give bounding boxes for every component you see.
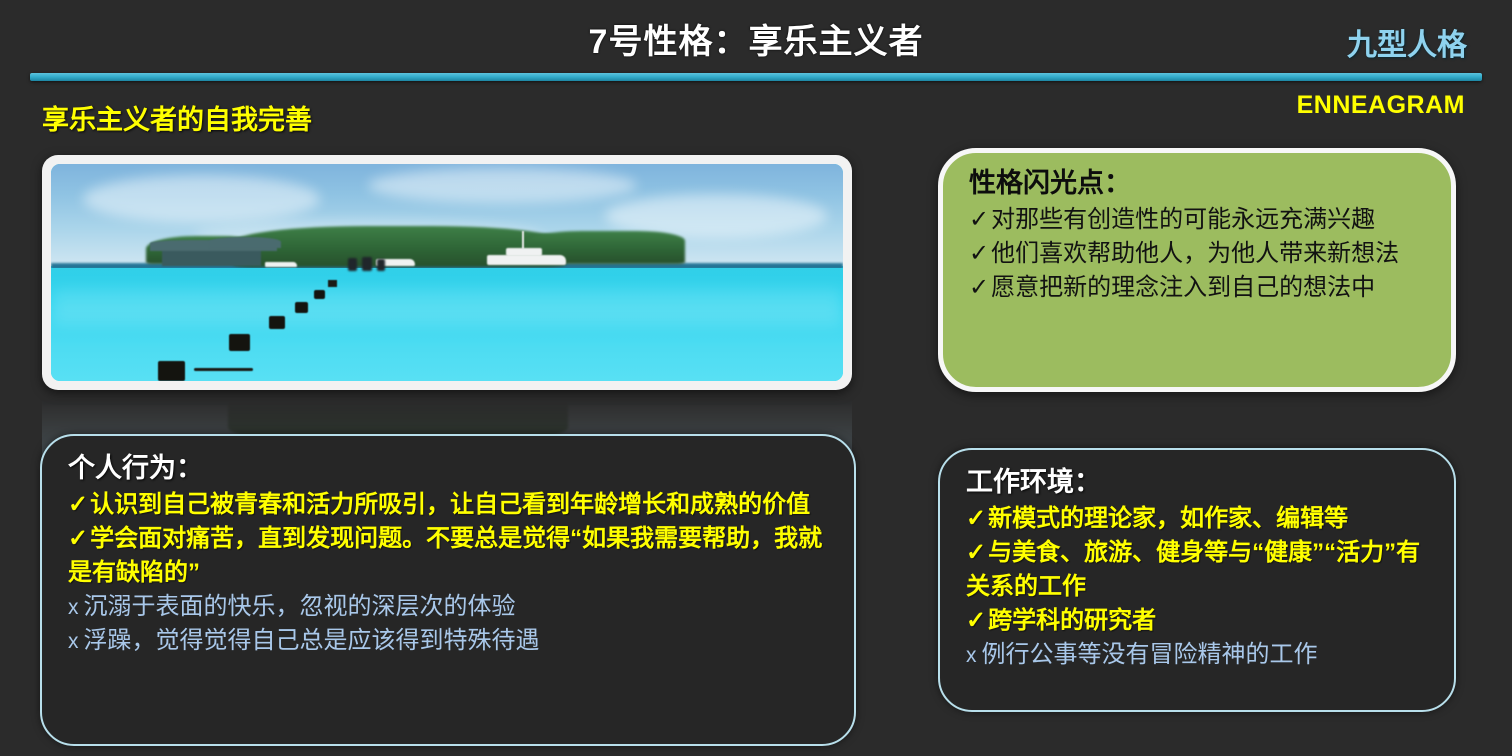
list-item-text: 愿意把新的理念注入到自己的想法中: [991, 274, 1375, 301]
person-3: [377, 259, 385, 271]
check-icon: ✓: [966, 604, 986, 638]
villa-roof-center: [209, 237, 280, 248]
check-icon: ✓: [969, 203, 989, 237]
person-2: [362, 257, 372, 271]
header-divider: [30, 73, 1482, 81]
card-behavior-heading: 个人行为：: [68, 452, 832, 486]
piling-3: [269, 316, 286, 329]
list-item: ✓跨学科的研究者: [966, 604, 1432, 638]
list-item-text: 他们喜欢帮助他人，为他人带来新想法: [991, 240, 1399, 267]
person-1: [348, 258, 357, 271]
cross-icon: x: [966, 641, 977, 671]
card-workenv-heading: 工作环境：: [966, 466, 1432, 500]
reflection-sea: [42, 392, 852, 399]
section-subtitle: 享乐主义者的自我完善: [42, 98, 312, 137]
list-item-text: 沉溺于表面的快乐，忽视的深层次的体验: [84, 593, 516, 620]
list-item-text: 与美食、旅游、健身等与“健康”“活力”有关系的工作: [966, 539, 1420, 600]
list-item: ✓新模式的理论家，如作家、编辑等: [966, 502, 1432, 536]
list-item-text: 新模式的理论家，如作家、编辑等: [988, 505, 1348, 532]
slide-canvas: 7号性格：享乐主义者 九型人格 ENNEAGRAM 享乐主义者的自我完善: [0, 0, 1512, 756]
piling-1: [158, 361, 185, 381]
cloud-2: [368, 168, 637, 203]
photo-canvas: [51, 164, 843, 381]
cross-icon: x: [68, 593, 79, 623]
list-item: ✓认识到自己被青春和活力所吸引，让自己看到年龄增长和成熟的价值: [68, 488, 832, 522]
list-item-text: 认识到自己被青春和活力所吸引，让自己看到年龄增长和成熟的价值: [90, 491, 810, 518]
piling-6: [328, 280, 337, 287]
piling-5: [314, 290, 325, 299]
list-item: x沉溺于表面的快乐，忽视的深层次的体验: [68, 590, 832, 624]
list-item: ✓愿意把新的理念注入到自己的想法中: [969, 271, 1431, 305]
check-icon: ✓: [68, 522, 88, 556]
brand-name-en: ENNEAGRAM: [1297, 91, 1465, 120]
cloud-1: [83, 175, 321, 223]
card-highlights-body: 性格闪光点： ✓对那些有创造性的可能永远充满兴趣 ✓他们喜欢帮助他人，为他人带来…: [943, 153, 1451, 315]
list-item-text: 学会面对痛苦，直到发现问题。不要总是觉得“如果我需要帮助，我就是有缺陷的”: [68, 525, 822, 586]
pier-rail-low: [194, 368, 253, 371]
card-behavior-body: 个人行为： ✓认识到自己被青春和活力所吸引，让自己看到年龄增长和成熟的价值 ✓学…: [42, 436, 854, 668]
list-item: x例行公事等没有冒险精神的工作: [966, 638, 1432, 672]
piling-2: [229, 334, 250, 350]
list-item: ✓与美食、旅游、健身等与“健康”“活力”有关系的工作: [966, 536, 1432, 604]
piling-4: [295, 302, 308, 313]
boat-cabin: [506, 248, 542, 257]
tropical-pier-photo: [42, 155, 852, 390]
list-item: ✓学会面对痛苦，直到发现问题。不要总是觉得“如果我需要帮助，我就是有缺陷的”: [68, 522, 832, 590]
list-item-text: 浮躁，觉得觉得自己总是应该得到特殊待遇: [84, 627, 540, 654]
boat-mast: [522, 231, 524, 248]
sea-highlight: [51, 290, 843, 325]
card-work-environment: 工作环境： ✓新模式的理论家，如作家、编辑等 ✓与美食、旅游、健身等与“健康”“…: [938, 448, 1456, 712]
boat-tiny: [265, 262, 297, 268]
list-item: x浮躁，觉得觉得自己总是应该得到特殊待遇: [68, 624, 832, 658]
list-item: ✓他们喜欢帮助他人，为他人带来新想法: [969, 237, 1431, 271]
cross-icon: x: [68, 627, 79, 657]
check-icon: ✓: [68, 488, 88, 522]
check-icon: ✓: [969, 271, 989, 305]
page-title: 7号性格：享乐主义者: [0, 14, 1512, 63]
list-item-text: 例行公事等没有冒险精神的工作: [982, 641, 1318, 668]
brand-name-cn: 九型人格: [1347, 20, 1467, 64]
card-personality-highlights: 性格闪光点： ✓对那些有创造性的可能永远充满兴趣 ✓他们喜欢帮助他人，为他人带来…: [938, 148, 1456, 392]
list-item-text: 跨学科的研究者: [988, 607, 1156, 634]
check-icon: ✓: [969, 237, 989, 271]
check-icon: ✓: [966, 502, 986, 536]
list-item: ✓对那些有创造性的可能永远充满兴趣: [969, 203, 1431, 237]
card-workenv-body: 工作环境： ✓新模式的理论家，如作家、编辑等 ✓与美食、旅游、健身等与“健康”“…: [940, 450, 1454, 682]
list-item-text: 对那些有创造性的可能永远充满兴趣: [991, 206, 1375, 233]
check-icon: ✓: [966, 536, 986, 570]
card-highlights-heading: 性格闪光点：: [969, 167, 1431, 201]
boat-large: [487, 255, 566, 265]
card-personal-behavior: 个人行为： ✓认识到自己被青春和活力所吸引，让自己看到年龄增长和成熟的价值 ✓学…: [40, 434, 856, 746]
